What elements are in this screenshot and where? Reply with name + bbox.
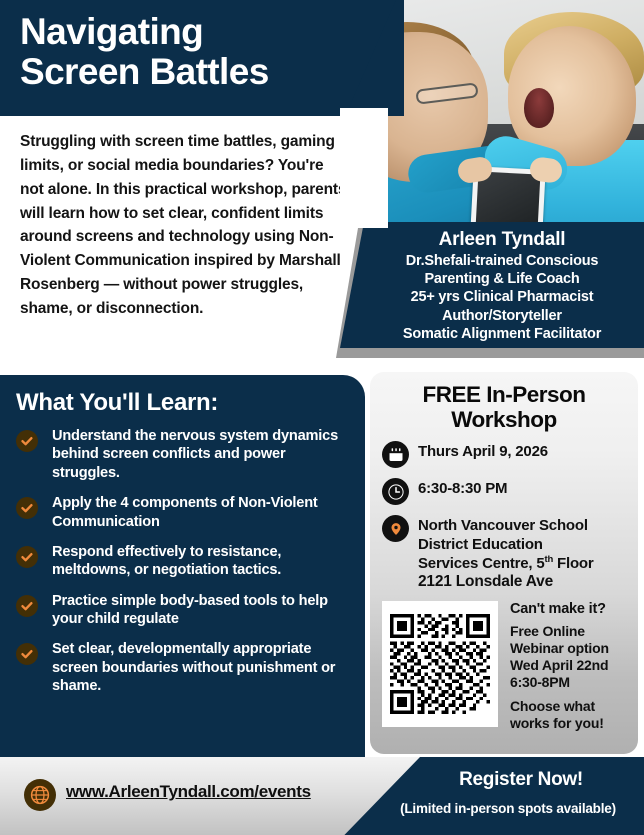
website-link[interactable]: www.ArleenTyndall.com/events (66, 782, 311, 802)
intro-paragraph: Struggling with screen time battles, gam… (20, 130, 350, 321)
speaker-credential: Author/Storyteller (370, 307, 634, 325)
event-date: Thurs April 9, 2026 (418, 440, 548, 461)
webinar-heading: Can't make it? (510, 601, 609, 617)
speaker-bio: Arleen Tyndall Dr.Shefali-trained Consci… (340, 222, 644, 348)
event-venue: North Vancouver School District Educatio… (418, 514, 594, 592)
calendar-icon (382, 441, 409, 468)
list-item-label: Respond effectively to resistance, meltd… (52, 543, 347, 580)
venue-line-1: North Vancouver School (418, 517, 588, 534)
list-item-label: Apply the 4 components of Non-Violent Co… (52, 494, 347, 531)
list-item: Set clear, developmentally appropriate s… (16, 640, 347, 695)
register-subtext: (Limited in-person spots available) (372, 801, 644, 816)
list-item: Respond effectively to resistance, meltd… (16, 543, 347, 580)
venue-line-3-pre: Services Centre, 5 (418, 555, 544, 572)
clock-icon (382, 478, 409, 505)
event-date-row: Thurs April 9, 2026 (382, 440, 626, 468)
check-icon (16, 497, 38, 519)
footer: www.ArleenTyndall.com/events Register No… (0, 757, 644, 835)
venue-line-3-post: Floor (553, 555, 593, 572)
event-details-panel: FREE In-Person Workshop Thurs April 9, 2… (370, 372, 638, 754)
page-title: Navigating Screen Battles (20, 12, 380, 92)
location-pin-icon (382, 515, 409, 542)
speaker-credential: Somatic Alignment Facilitator (370, 325, 634, 343)
hero-photo (372, 0, 644, 222)
check-icon (16, 546, 38, 568)
list-item-label: Understand the nervous system dynamics b… (52, 427, 347, 482)
check-icon (16, 595, 38, 617)
list-item: Understand the nervous system dynamics b… (16, 427, 347, 482)
what-youll-learn-card: What You'll Learn: Understand the nervou… (0, 375, 365, 783)
event-venue-row: North Vancouver School District Educatio… (382, 514, 626, 592)
speaker-name: Arleen Tyndall (370, 228, 634, 252)
event-time-row: 6:30-8:30 PM (382, 477, 626, 505)
venue-street-address: 2121 Lonsdale Ave (418, 573, 553, 590)
list-item: Practice simple body-based tools to help… (16, 592, 347, 629)
webinar-body: Free Online Webinar option Wed April 22n… (510, 623, 609, 690)
register-now-label: Register Now! (398, 769, 644, 791)
photo-white-wedge (340, 108, 388, 228)
flyer-poster: Navigating Screen Battles Struggling wit… (0, 0, 644, 835)
speaker-credential: Parenting & Life Coach (370, 270, 634, 288)
event-heading: FREE In-Person Workshop (382, 382, 626, 432)
speaker-credential: Dr.Shefali-trained Conscious (370, 252, 634, 270)
list-item-label: Set clear, developmentally appropriate s… (52, 640, 347, 695)
check-icon (16, 643, 38, 665)
webinar-text: Can't make it? Free Online Webinar optio… (498, 601, 609, 732)
check-icon (16, 430, 38, 452)
speaker-credential: 25+ yrs Clinical Pharmacist (370, 288, 634, 306)
webinar-block: Can't make it? Free Online Webinar optio… (382, 601, 626, 732)
venue-ordinal-suffix: th (544, 554, 553, 565)
qr-code[interactable] (382, 601, 498, 727)
webinar-closing: Choose what works for you! (510, 698, 609, 732)
list-item: Apply the 4 components of Non-Violent Co… (16, 494, 347, 531)
event-time: 6:30-8:30 PM (418, 477, 507, 498)
list-item-label: Practice simple body-based tools to help… (52, 592, 347, 629)
globe-icon (24, 779, 56, 811)
venue-line-2: District Education (418, 536, 543, 553)
qr-code-image (390, 609, 490, 719)
learn-section-title: What You'll Learn: (16, 389, 347, 417)
